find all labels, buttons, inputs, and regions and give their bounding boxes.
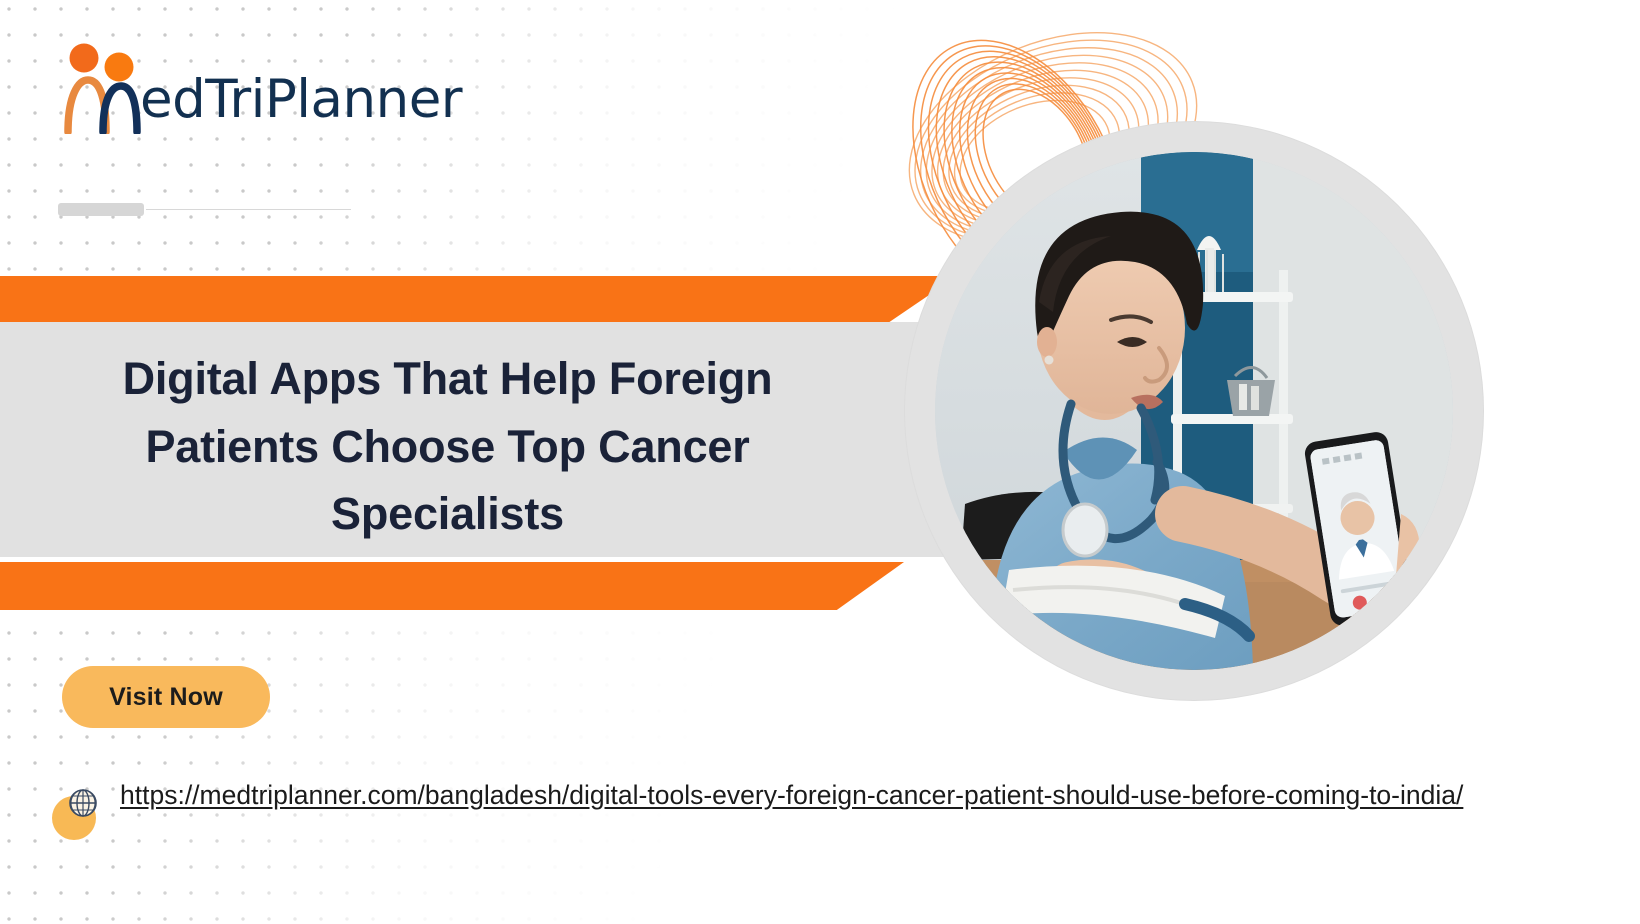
visit-now-button[interactable]: Visit Now <box>62 666 270 728</box>
two-people-logo-mark-icon <box>58 38 146 134</box>
orange-top-band <box>0 276 957 322</box>
thin-rule-line <box>146 209 351 211</box>
globe-icon-wrapper <box>52 782 110 840</box>
logo-underline-decoration <box>58 203 351 216</box>
headline-line-3: Specialists <box>20 480 875 548</box>
brand-logo[interactable]: edTriPlanner <box>58 38 462 134</box>
article-url-link[interactable]: https://medtriplanner.com/bangladesh/dig… <box>120 776 1463 816</box>
globe-icon <box>66 786 100 820</box>
photo-ring-border <box>905 122 1483 700</box>
headline-line-2: Patients Choose Top Cancer <box>20 413 875 481</box>
orange-bottom-band <box>0 562 952 610</box>
article-link-row[interactable]: https://medtriplanner.com/bangladesh/dig… <box>52 776 1482 840</box>
hero-photo <box>935 152 1453 670</box>
brand-logo-text: edTriPlanner <box>140 73 462 126</box>
nurse-telemedicine-illustration <box>935 152 1453 670</box>
gray-pill-shape <box>58 203 144 216</box>
headline-line-1: Digital Apps That Help Foreign <box>20 345 875 413</box>
promo-banner: edTriPlanner Digital Apps That Help Fore… <box>0 0 1640 924</box>
page-title: Digital Apps That Help Foreign Patients … <box>20 345 875 548</box>
